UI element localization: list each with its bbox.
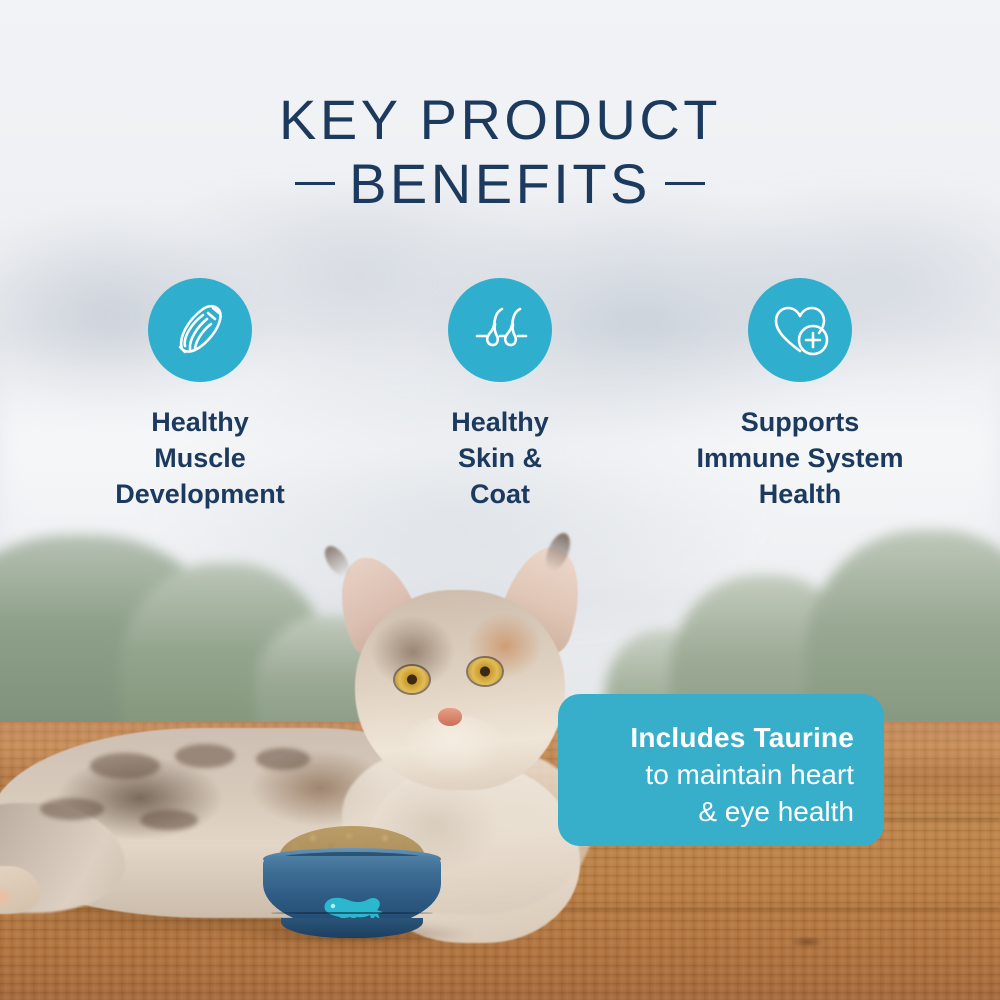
product-benefits-graphic: KEY PRODUCT BENEFITS bbox=[0, 0, 1000, 1000]
benefit-icon-circle bbox=[448, 278, 552, 382]
muscle-fiber-icon bbox=[169, 299, 231, 361]
benefits-row: Healthy Muscle Development Healthy Ski bbox=[50, 278, 950, 512]
cat-fur-marking bbox=[256, 748, 310, 770]
cat-fur-marking bbox=[90, 753, 160, 779]
title-line-1: KEY PRODUCT bbox=[279, 88, 721, 151]
page-title: KEY PRODUCT BENEFITS bbox=[0, 88, 1000, 216]
callout-headline: Includes Taurine bbox=[558, 720, 854, 756]
benefit-item-immune: Supports Immune System Health bbox=[650, 278, 950, 512]
pet-food-bowl bbox=[263, 842, 441, 938]
bowl-groove bbox=[271, 912, 433, 914]
title-dash-left bbox=[295, 182, 335, 185]
benefit-icon-circle bbox=[148, 278, 252, 382]
cat-eye-right bbox=[468, 658, 502, 685]
wood-knot bbox=[790, 936, 824, 948]
benefit-label: Healthy Muscle Development bbox=[115, 404, 285, 512]
cat-fur-marking bbox=[175, 744, 235, 768]
benefit-item-muscle: Healthy Muscle Development bbox=[50, 278, 350, 512]
cat-eye-left bbox=[395, 666, 429, 693]
title-line-2-text: BENEFITS bbox=[349, 152, 651, 215]
benefit-item-skin-coat: Healthy Skin & Coat bbox=[350, 278, 650, 512]
heart-plus-icon bbox=[768, 299, 832, 361]
title-line-2: BENEFITS bbox=[0, 152, 1000, 216]
hair-follicle-icon bbox=[469, 299, 531, 361]
bowl-base bbox=[281, 918, 423, 938]
cat-fur-marking bbox=[140, 810, 198, 830]
callout-body: to maintain heart & eye health bbox=[558, 756, 854, 830]
benefit-label: Healthy Skin & Coat bbox=[451, 404, 549, 512]
benefit-icon-circle bbox=[748, 278, 852, 382]
cat-fur-marking bbox=[40, 798, 104, 820]
cat-nose bbox=[438, 708, 462, 726]
benefit-label: Supports Immune System Health bbox=[696, 404, 903, 512]
taurine-callout: Includes Taurine to maintain heart & eye… bbox=[558, 694, 884, 846]
title-dash-right bbox=[665, 182, 705, 185]
